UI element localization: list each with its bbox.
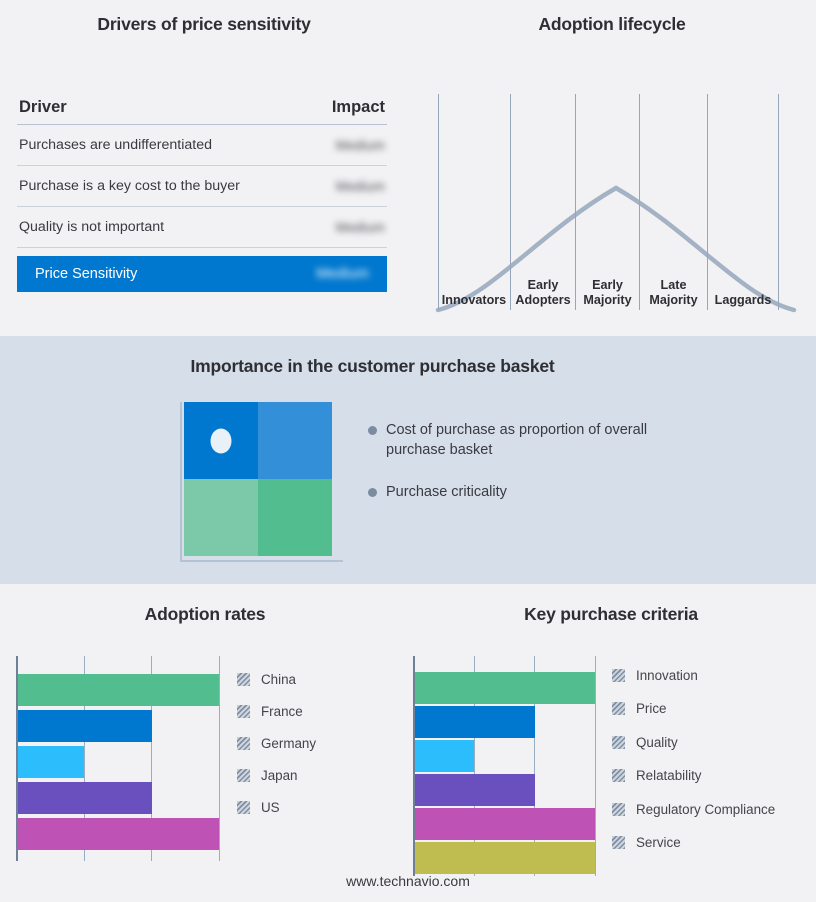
impact-value: Medium — [315, 220, 385, 235]
table-row: Purchases are undifferentiated Medium — [17, 125, 387, 166]
legend-label: Relatability — [636, 768, 702, 783]
lifecycle-title: Adoption lifecycle — [408, 14, 816, 35]
legend-item: Cost of purchase as proportion of overal… — [368, 420, 668, 460]
legend-item-us: US — [237, 800, 280, 815]
legend-label: Regulatory Compliance — [636, 802, 775, 817]
legend-label: Japan — [261, 768, 297, 783]
lifecycle-stage-early-adopters: Early Adopters — [511, 278, 575, 308]
importance-matrix — [184, 402, 332, 556]
bar-us — [18, 818, 219, 850]
hatch-swatch-icon — [237, 801, 250, 814]
matrix-quadrant-top-right — [258, 402, 332, 479]
matrix-x-axis — [180, 560, 343, 562]
hatch-swatch-icon — [237, 673, 250, 686]
summary-label: Price Sensitivity — [35, 266, 137, 282]
bar-relatability — [415, 774, 535, 806]
impact-value: Medium — [315, 138, 385, 153]
drivers-table: Driver Impact Purchases are undifferenti… — [17, 90, 387, 292]
table-header-row: Driver Impact — [17, 90, 387, 125]
adoption-rates-legend: China France Germany Japan US — [237, 672, 387, 842]
adoption-rates-panel: Adoption rates China France Germa — [0, 604, 410, 625]
hatch-swatch-icon — [612, 836, 625, 849]
hatch-swatch-icon — [237, 705, 250, 718]
legend-item-japan: Japan — [237, 768, 297, 783]
hatch-swatch-icon — [612, 669, 625, 682]
legend-label: Innovation — [636, 668, 698, 683]
matrix-quadrant-bottom-right — [258, 479, 332, 556]
column-header-impact: Impact — [315, 98, 385, 117]
legend-item: Purchase criticality — [368, 482, 668, 502]
bar-china — [18, 674, 219, 706]
lifecycle-stage-late-majority: Late Majority — [640, 278, 707, 308]
legend-item-germany: Germany — [237, 736, 316, 751]
legend-item-regulatory-compliance: Regulatory Compliance — [612, 802, 775, 817]
adoption-rates-title: Adoption rates — [0, 604, 410, 625]
hatch-swatch-icon — [612, 769, 625, 782]
bar-quality — [415, 740, 474, 772]
hatch-swatch-icon — [237, 769, 250, 782]
legend-label: Price — [636, 701, 667, 716]
gridline — [595, 656, 596, 876]
key-purchase-criteria-title: Key purchase criteria — [406, 604, 816, 625]
drivers-panel: Drivers of price sensitivity Driver Impa… — [0, 14, 408, 35]
importance-title: Importance in the customer purchase bask… — [0, 356, 745, 377]
bar-price — [415, 706, 535, 738]
bar-france — [18, 710, 152, 742]
bottom-band: Adoption rates China France Germa — [0, 584, 816, 902]
bullet-dot-icon — [368, 488, 377, 497]
hatch-swatch-icon — [612, 736, 625, 749]
table-row: Purchase is a key cost to the buyer Medi… — [17, 166, 387, 207]
matrix-quadrant-top-left — [184, 402, 258, 479]
bar-germany — [18, 746, 84, 778]
price-sensitivity-summary-row: Price Sensitivity Medium — [17, 256, 387, 292]
bar-regulatory-compliance — [415, 808, 595, 840]
lifecycle-chart: Innovators Early Adopters Early Majority… — [430, 82, 802, 317]
legend-item-innovation: Innovation — [612, 668, 698, 683]
key-purchase-criteria-chart — [413, 656, 598, 876]
matrix-quadrant-bottom-left — [184, 479, 258, 556]
top-band: Drivers of price sensitivity Driver Impa… — [0, 0, 816, 336]
bar-innovation — [415, 672, 595, 704]
bar-japan — [18, 782, 152, 814]
legend-item-service: Service — [612, 835, 681, 850]
hatch-swatch-icon — [612, 702, 625, 715]
legend-item-relatability: Relatability — [612, 768, 702, 783]
legend-label: China — [261, 672, 296, 687]
drivers-title: Drivers of price sensitivity — [0, 14, 408, 35]
legend-item-quality: Quality — [612, 735, 678, 750]
table-row: Quality is not important Medium — [17, 207, 387, 248]
driver-name: Purchases are undifferentiated — [19, 137, 212, 153]
bar-service — [415, 842, 595, 874]
footer-url: www.technavio.com — [0, 873, 816, 889]
importance-legend: Cost of purchase as proportion of overal… — [368, 420, 668, 524]
lifecycle-panel: Adoption lifecycle Innovators Early Adop… — [408, 14, 816, 35]
gridline — [219, 656, 220, 861]
legend-label: Service — [636, 835, 681, 850]
legend-label: Germany — [261, 736, 316, 751]
legend-label: Purchase criticality — [386, 482, 507, 502]
lifecycle-stage-innovators: Innovators — [438, 293, 510, 308]
legend-label: US — [261, 800, 280, 815]
driver-name: Quality is not important — [19, 219, 164, 235]
legend-item-france: France — [237, 704, 303, 719]
adoption-rates-chart — [16, 656, 222, 861]
legend-label: France — [261, 704, 303, 719]
legend-label: Cost of purchase as proportion of overal… — [386, 420, 648, 460]
matrix-position-marker — [211, 428, 232, 453]
matrix-y-axis — [180, 402, 182, 560]
summary-impact-value: Medium — [299, 266, 369, 282]
hatch-swatch-icon — [237, 737, 250, 750]
hatch-swatch-icon — [612, 803, 625, 816]
lifecycle-stage-early-majority: Early Majority — [576, 278, 639, 308]
legend-item-china: China — [237, 672, 296, 687]
lifecycle-stage-laggards: Laggards — [708, 293, 778, 308]
driver-name: Purchase is a key cost to the buyer — [19, 178, 240, 194]
legend-item-price: Price — [612, 701, 667, 716]
key-purchase-criteria-legend: Innovation Price Quality Relatability Re… — [612, 668, 812, 868]
column-header-driver: Driver — [19, 98, 67, 117]
key-purchase-criteria-panel: Key purchase criteria Innovation Price — [406, 604, 816, 625]
impact-value: Medium — [315, 179, 385, 194]
lifecycle-labels: Innovators Early Adopters Early Majority… — [430, 82, 802, 310]
importance-band: Importance in the customer purchase bask… — [0, 336, 816, 584]
bullet-dot-icon — [368, 426, 377, 435]
legend-label: Quality — [636, 735, 678, 750]
